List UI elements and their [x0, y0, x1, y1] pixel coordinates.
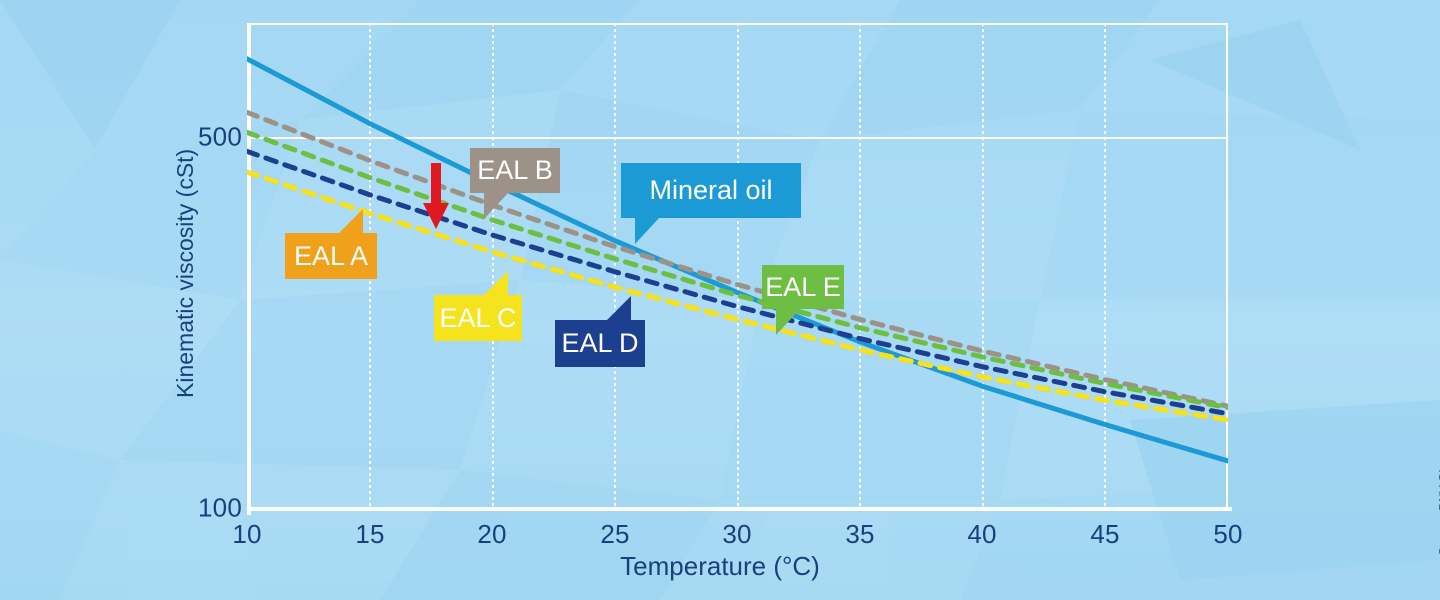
- red-down-arrow-annotation: [421, 163, 451, 236]
- callout-tail-eal-a: [339, 209, 363, 233]
- callout-tail-mineral-oil: [635, 218, 659, 244]
- callout-label-eal-a: EAL A: [285, 233, 377, 279]
- x-tick-label-45: 45: [1090, 519, 1119, 550]
- callout-tail-eal-c: [484, 271, 508, 295]
- callout-label-eal-b: EAL B: [470, 148, 560, 193]
- x-tick-label-25: 25: [600, 519, 629, 550]
- callout-eal-b: EAL B: [470, 148, 560, 193]
- callout-eal-a: EAL A: [285, 233, 377, 279]
- callout-label-eal-d: EAL D: [555, 320, 645, 367]
- chart-figure: EAL AEAL BMineral oilEAL CEAL DEAL E 500…: [0, 0, 1440, 600]
- x-tick-label-15: 15: [355, 519, 384, 550]
- x-tick-label-40: 40: [967, 519, 996, 550]
- callout-label-mineral-oil: Mineral oil: [621, 163, 801, 218]
- x-tick-label-10: 10: [232, 519, 261, 550]
- x-tick-label-50: 50: [1213, 519, 1242, 550]
- x-axis-title: Temperature (°C): [0, 551, 1440, 582]
- y-axis-title: Kinematic viscosity (cSt): [172, 149, 199, 398]
- callout-eal-c: EAL C: [434, 295, 522, 341]
- x-tick-label-30: 30: [722, 519, 751, 550]
- callout-mineral-oil: Mineral oil: [621, 163, 801, 218]
- series-layer: [247, 23, 1228, 511]
- callout-label-eal-c: EAL C: [434, 295, 522, 341]
- callout-label-eal-e: EAL E: [762, 265, 844, 309]
- callout-eal-e: EAL E: [762, 265, 844, 309]
- x-tick-label-35: 35: [845, 519, 874, 550]
- callout-tail-eal-d: [607, 296, 631, 320]
- series-line-mineral-oil: [247, 59, 1228, 461]
- callout-eal-d: EAL D: [555, 320, 645, 367]
- callout-tail-eal-e: [776, 309, 800, 335]
- x-tick-label-20: 20: [477, 519, 506, 550]
- series-line-eal-b: [247, 112, 1228, 406]
- callout-tail-eal-b: [484, 193, 508, 219]
- source-note: Source: DNV GL: [1436, 466, 1440, 555]
